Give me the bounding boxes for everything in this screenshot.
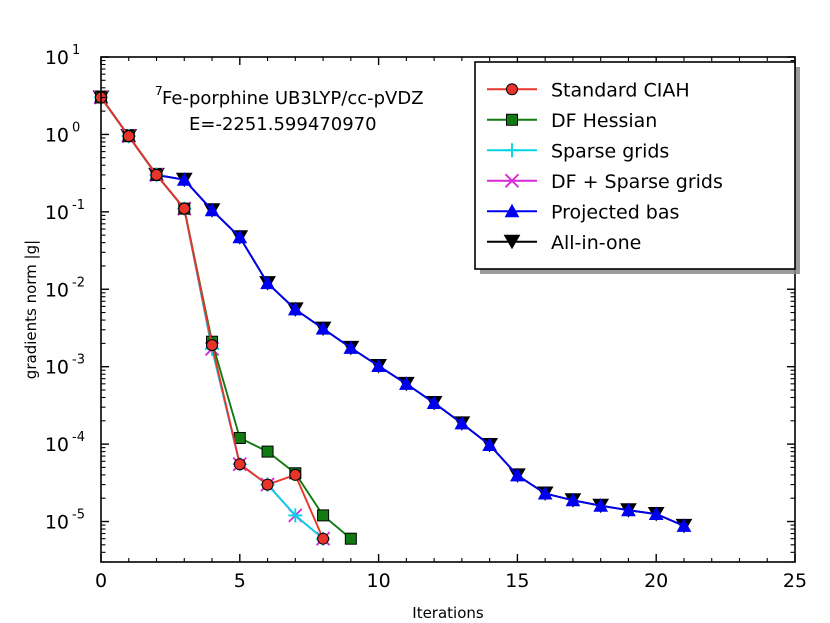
annotation-line-2: E=-2251.599470970 bbox=[189, 114, 377, 135]
legend-label: All-in-one bbox=[551, 232, 641, 254]
legend-label: DF Hessian bbox=[551, 110, 657, 132]
gradient-convergence-plot: 051015202510110010-110-210-310-410-5Iter… bbox=[0, 0, 830, 623]
y-tick-label: 10-2 bbox=[45, 275, 85, 301]
legend-label: Sparse grids bbox=[551, 140, 669, 162]
data-point-marker bbox=[234, 459, 245, 470]
x-tick-label: 25 bbox=[783, 570, 807, 592]
data-point-marker bbox=[318, 533, 329, 544]
data-point-marker bbox=[345, 533, 356, 544]
data-point-marker bbox=[290, 469, 301, 480]
x-axis-title: Iterations bbox=[412, 604, 484, 622]
legend-label: Standard CIAH bbox=[551, 79, 690, 101]
annotation-line-1: Fe-porphine UB3LYP/cc-pVDZ bbox=[162, 88, 424, 109]
data-point-marker bbox=[507, 114, 518, 125]
y-tick-exponent: 0 bbox=[72, 120, 80, 135]
data-point-marker bbox=[151, 169, 162, 180]
y-tick-mantissa: 10 bbox=[45, 47, 69, 69]
y-tick-mantissa: 10 bbox=[45, 434, 69, 456]
legend-label: DF + Sparse grids bbox=[551, 171, 723, 193]
data-point-marker bbox=[207, 340, 218, 351]
y-tick-mantissa: 10 bbox=[45, 512, 69, 534]
y-tick-exponent: 1 bbox=[72, 43, 80, 58]
annotation-layer: 7 Fe-porphine UB3LYP/cc-pVDZE=-2251.5994… bbox=[155, 84, 424, 135]
x-tick-label: 0 bbox=[95, 570, 107, 592]
data-point-marker bbox=[262, 446, 273, 457]
legend-label: Projected bas bbox=[551, 201, 679, 223]
figure-canvas: 051015202510110010-110-210-310-410-5Iter… bbox=[0, 0, 830, 623]
y-tick-label: 100 bbox=[45, 120, 80, 146]
y-tick-label: 10-3 bbox=[45, 353, 85, 379]
series-standard-ciah bbox=[96, 92, 329, 544]
y-tick-mantissa: 10 bbox=[45, 279, 69, 301]
y-tick-label: 101 bbox=[45, 43, 80, 69]
data-point-marker bbox=[507, 84, 518, 95]
data-point-marker bbox=[179, 203, 190, 214]
y-tick-exponent: -3 bbox=[72, 353, 85, 368]
data-point-marker bbox=[262, 479, 273, 490]
y-tick-exponent: -2 bbox=[72, 275, 85, 290]
data-point-marker bbox=[234, 432, 245, 443]
y-tick-label: 10-1 bbox=[45, 198, 85, 224]
y-tick-mantissa: 10 bbox=[45, 357, 69, 379]
y-tick-mantissa: 10 bbox=[45, 124, 69, 146]
data-point-marker bbox=[123, 131, 134, 142]
y-tick-exponent: -1 bbox=[72, 198, 85, 213]
x-tick-label: 10 bbox=[367, 570, 391, 592]
x-tick-label: 20 bbox=[644, 570, 668, 592]
y-tick-label: 10-4 bbox=[45, 430, 85, 456]
y-tick-mantissa: 10 bbox=[45, 202, 69, 224]
x-tick-label: 5 bbox=[234, 570, 246, 592]
molecule-annotation: 7 Fe-porphine UB3LYP/cc-pVDZE=-2251.5994… bbox=[155, 84, 424, 135]
y-tick-exponent: -5 bbox=[72, 508, 85, 523]
y-tick-label: 10-5 bbox=[45, 508, 85, 534]
series-line bbox=[101, 97, 351, 538]
x-tick-label: 15 bbox=[505, 570, 529, 592]
y-tick-exponent: -4 bbox=[72, 430, 85, 445]
data-point-marker bbox=[318, 510, 329, 521]
legend[interactable]: Standard CIAHDF HessianSparse gridsDF + … bbox=[475, 62, 800, 274]
y-axis-title: gradients norm |g| bbox=[22, 240, 40, 379]
series-df-hessian bbox=[96, 92, 357, 544]
